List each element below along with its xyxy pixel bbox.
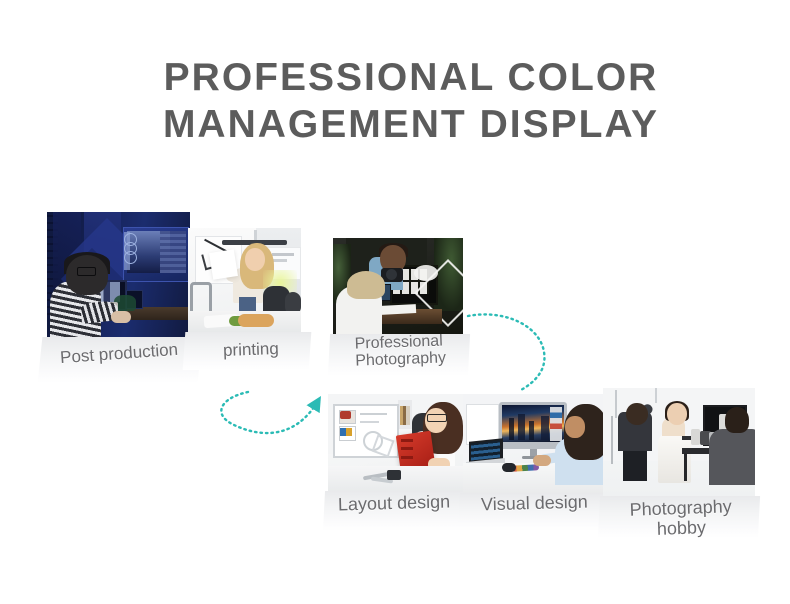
panel-photography-hobby[interactable] bbox=[603, 388, 755, 496]
banner-root: PROFESSIONAL COLOR MANAGEMENT DISPLAY Po… bbox=[0, 0, 790, 604]
page-title: PROFESSIONAL COLOR MANAGEMENT DISPLAY bbox=[0, 54, 790, 148]
post-production-photo bbox=[47, 212, 190, 337]
panel-post-production[interactable] bbox=[47, 212, 190, 337]
panel-printing[interactable] bbox=[188, 228, 301, 332]
panel-label-professional-photography: Professional Photography bbox=[354, 332, 446, 369]
panel-visual-design[interactable] bbox=[463, 394, 603, 493]
professional-photography-photo bbox=[333, 238, 463, 334]
panel-label-layout-design: Layout design bbox=[338, 493, 451, 515]
panel-layout-design[interactable] bbox=[328, 394, 463, 491]
panel-label-printing: printing bbox=[223, 339, 279, 360]
arrow-into-row2 bbox=[221, 392, 318, 433]
arrow-row1-to-row2 bbox=[468, 314, 544, 390]
visual-design-photo bbox=[463, 394, 603, 493]
panel-label-photography-hobby: Photography hobby bbox=[629, 496, 732, 540]
panel-professional-photography[interactable] bbox=[333, 238, 463, 334]
printing-photo bbox=[188, 228, 301, 332]
photography-hobby-photo bbox=[603, 388, 755, 496]
panel-label-visual-design: Visual design bbox=[481, 493, 588, 515]
layout-design-photo bbox=[328, 394, 463, 491]
